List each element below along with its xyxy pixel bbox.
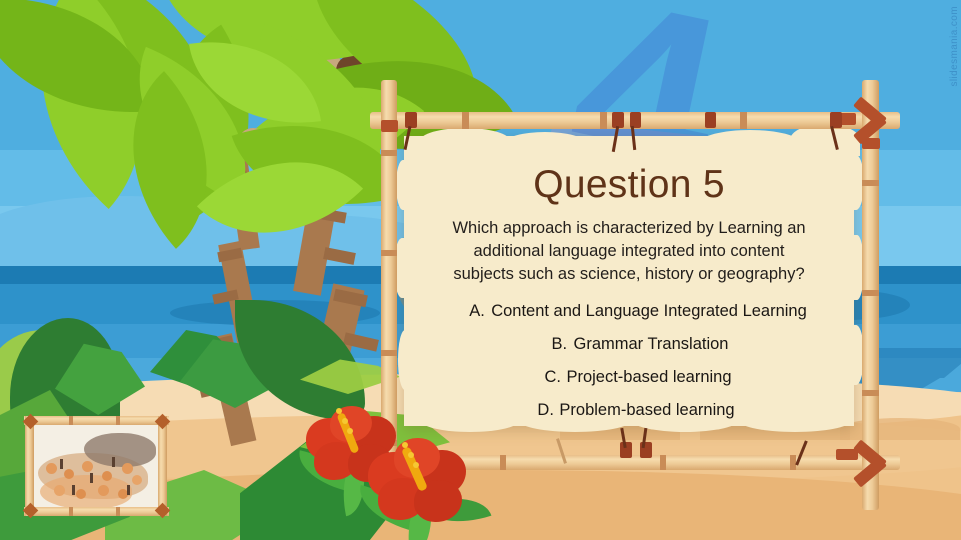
option-letter: A. (469, 295, 491, 328)
option-label: Grammar Translation (574, 328, 729, 361)
answer-option-c[interactable]: C. Project-based learning (424, 361, 834, 394)
option-label: Project-based learning (566, 361, 731, 394)
slide-canvas: 4 (0, 0, 961, 540)
parchment-edge (600, 140, 710, 160)
rope-lashing-top-right (850, 103, 890, 139)
parchment-edge (700, 130, 800, 156)
photo-frame[interactable] (24, 416, 169, 516)
question-title: Question 5 (404, 163, 854, 207)
dune-shape (840, 418, 960, 440)
rope-tie (705, 112, 716, 128)
option-letter: B. (552, 328, 574, 361)
rope-binding (862, 138, 880, 149)
photo-frame-bamboo-left (25, 416, 34, 516)
answer-option-d[interactable]: D. Problem-based learning (424, 394, 834, 427)
option-letter: C. (544, 361, 566, 394)
question-line: additional language integrated into cont… (424, 240, 834, 263)
question-line: Which approach is characterized by Learn… (424, 217, 834, 240)
photo-frame-bamboo-right (158, 416, 167, 516)
watermark-text: slidesmania.com (949, 6, 960, 86)
answer-option-b[interactable]: B. Grammar Translation (424, 328, 834, 361)
photo-frame-bamboo-bottom (24, 507, 169, 516)
answer-option-a[interactable]: A. Content and Language Integrated Learn… (424, 295, 834, 328)
rope-binding (381, 120, 398, 132)
hibiscus-flower (362, 432, 480, 540)
question-line: subjects such as science, history or geo… (424, 263, 834, 286)
option-label: Content and Language Integrated Learning (491, 295, 807, 328)
question-text: Which approach is characterized by Learn… (424, 217, 834, 286)
answer-options-list: A. Content and Language Integrated Learn… (424, 295, 834, 427)
option-label: Problem-based learning (559, 394, 734, 427)
photo-frame-bamboo-top (24, 416, 169, 425)
parchment-edge (420, 128, 510, 154)
option-letter: D. (537, 394, 559, 427)
rope-binding (836, 449, 858, 460)
parchment-edge (398, 330, 412, 390)
parchment-edge (505, 132, 585, 154)
photo-image (32, 423, 162, 509)
